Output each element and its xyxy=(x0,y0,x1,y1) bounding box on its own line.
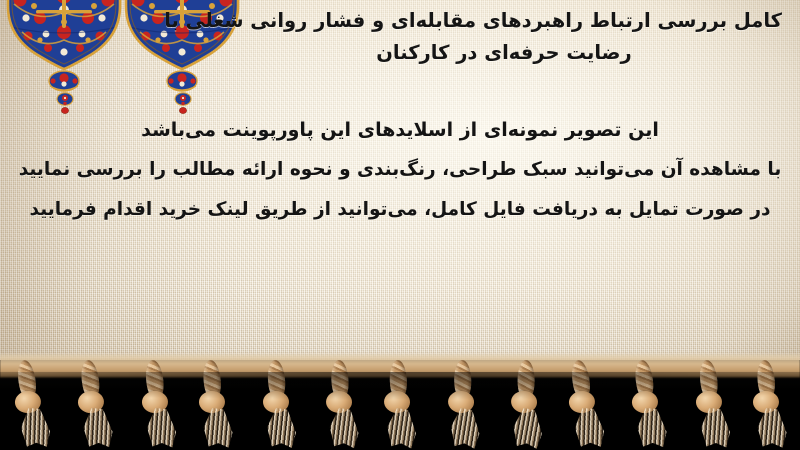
fringe-knot xyxy=(70,359,114,447)
medallion-shape-icon xyxy=(6,0,122,70)
fringe-tassel xyxy=(202,408,233,449)
body-line-2: با مشاهده آن می‌توانید سبک طراحی، رنگ‌بن… xyxy=(14,150,786,190)
title-line-1: کامل بررسی ارتباط راهبردهای مقابله‌ای و … xyxy=(226,6,782,36)
fringe-knot xyxy=(6,359,52,448)
body-line-1: این تصویر نمونه‌ای از اسلایدهای این پاور… xyxy=(14,110,786,150)
fringe-tassel xyxy=(145,407,176,448)
fringe-tassel xyxy=(511,407,544,449)
fringe-knot xyxy=(502,359,548,448)
fringe-knot xyxy=(624,359,668,447)
fringe-knot xyxy=(688,359,731,446)
fringe-knot xyxy=(439,359,483,447)
fringe-tassel xyxy=(18,407,51,449)
medallion-pendant-medium-icon xyxy=(174,92,192,108)
slide-body-text: این تصویر نمونه‌ای از اسلایدهای این پاور… xyxy=(14,110,786,230)
fringe-knot xyxy=(134,359,177,446)
fringe-knot xyxy=(320,360,361,447)
fringe-tassel xyxy=(635,407,667,449)
fringe-tassel xyxy=(572,407,605,449)
fringe-knot-row xyxy=(0,360,800,450)
fringe-tassel xyxy=(756,408,787,449)
fringe-tassel xyxy=(385,408,416,449)
medallion-pendant-large-icon xyxy=(48,70,80,94)
fringe-tassel xyxy=(266,408,296,448)
slide-title: کامل بررسی ارتباط راهبردهای مقابله‌ای و … xyxy=(226,6,782,68)
fringe-knot xyxy=(377,359,420,446)
fringe-tassel xyxy=(699,407,730,448)
title-line-2: رضایت حرفه‌ای در کارکنان xyxy=(226,38,782,68)
persian-medallion-ornament-left xyxy=(6,0,122,116)
fringe-knot xyxy=(193,360,234,447)
fringe-tassel xyxy=(448,407,480,449)
fringe-tassel xyxy=(329,408,360,449)
fringe-tassel xyxy=(82,407,114,449)
fringe-knot xyxy=(560,359,606,448)
medallion-pendant-medium-icon xyxy=(56,92,74,108)
medallion-pendant-large-icon xyxy=(166,70,198,94)
fringe-knot xyxy=(746,360,787,447)
fringe-knot xyxy=(257,360,297,446)
powerpoint-slide: کامل بررسی ارتباط راهبردهای مقابله‌ای و … xyxy=(0,0,800,450)
carpet-fringe-band xyxy=(0,342,800,450)
body-line-3: در صورت تمایل به دریافت فایل کامل، می‌تو… xyxy=(14,190,786,230)
